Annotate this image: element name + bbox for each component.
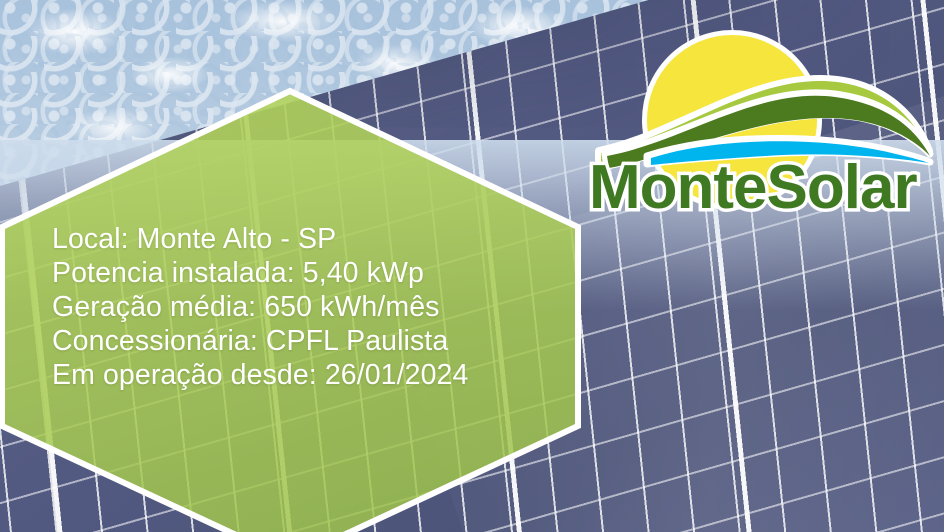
logo-wordmark: MonteSolar: [589, 153, 917, 220]
detail-line-operacao: Em operação desde: 26/01/2024: [52, 358, 552, 392]
installation-details-list: Local: Monte Alto - SP Potencia instalad…: [52, 222, 552, 392]
detail-line-potencia: Potencia instalada: 5,40 kWp: [52, 256, 552, 290]
detail-line-concessionaria: Concessionária: CPFL Paulista: [52, 324, 552, 358]
promo-card-canvas: Local: Monte Alto - SP Potencia instalad…: [0, 0, 944, 532]
detail-line-geracao: Geração média: 650 kWh/mês: [52, 290, 552, 324]
logo-wordmark-text: MonteSolar: [589, 153, 917, 220]
montesolar-logo: MonteSolar: [585, 8, 935, 218]
logo-artwork: MonteSolar: [585, 8, 935, 220]
detail-line-local: Local: Monte Alto - SP: [52, 222, 552, 256]
